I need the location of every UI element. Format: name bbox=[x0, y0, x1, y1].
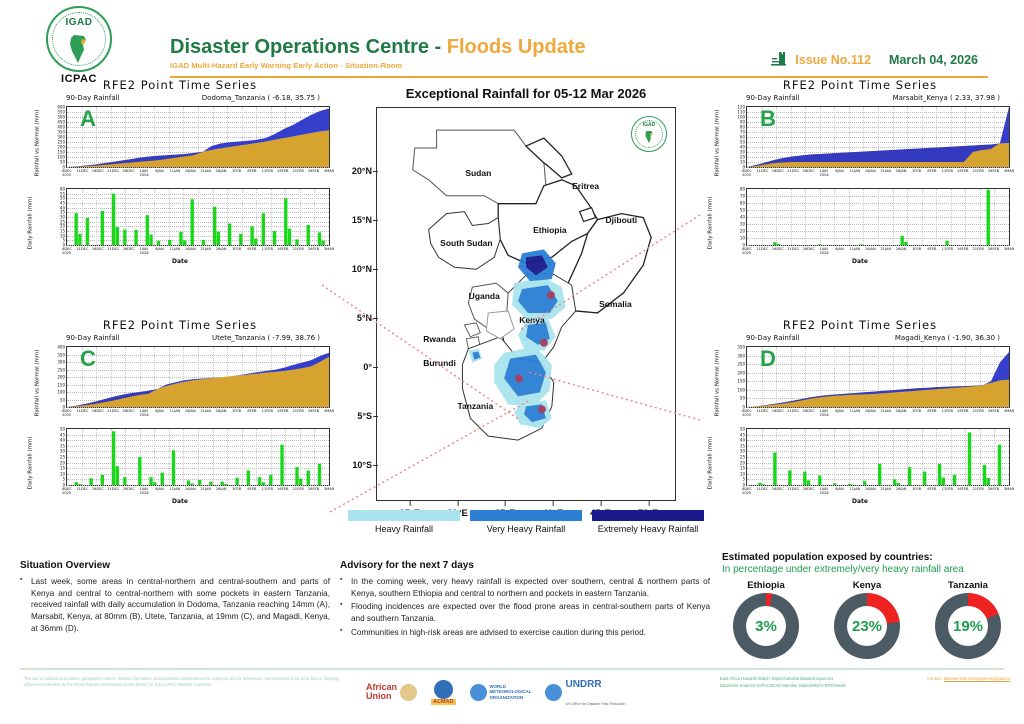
page-header: IGAD ICPAC Disaster Operations Centre - … bbox=[0, 0, 1024, 80]
x-tick-label: 1JAN2026 bbox=[819, 487, 828, 495]
y-axis-label: Daily Rainfall (mm) bbox=[27, 197, 33, 250]
donut-chart: 3% bbox=[733, 593, 799, 659]
x-tick-label: 21JAN bbox=[200, 169, 211, 173]
y-tick-label: 15 bbox=[60, 466, 65, 471]
x-tick-label: 6JAN bbox=[155, 487, 163, 491]
situation-title: Situation Overview bbox=[20, 560, 330, 571]
map-frame: 20°N 15°N 10°N 5°N 0° 5°S 10°S 25°E 30°E… bbox=[376, 107, 676, 501]
x-axis-title: Date bbox=[702, 498, 1018, 505]
country-label-eritrea: Eritrea bbox=[572, 181, 599, 191]
y-tick-label: 350 bbox=[737, 345, 745, 350]
plot-area: 3503002502001501005006DEC202511DEC16DEC2… bbox=[746, 346, 1010, 408]
donut-country-label: Ethiopia bbox=[722, 580, 810, 591]
plot-area: 504540353025201510506DEC202511DEC16DEC21… bbox=[746, 428, 1010, 486]
footer-links: East Africa Hazards Watch: https://eahaz… bbox=[720, 676, 1010, 689]
y-tick-label: 70 bbox=[740, 194, 745, 199]
plot-series bbox=[67, 107, 329, 167]
x-tick-label: 16DEC bbox=[772, 487, 784, 491]
x-tick-label: 1FEB bbox=[232, 487, 241, 491]
donut-chart: 23% bbox=[834, 593, 900, 659]
x-tick-label: 21JAN bbox=[200, 247, 211, 251]
y-axis-label: Rainfall vs Normal (mm) bbox=[34, 350, 40, 417]
chart-panel-title: RFE2 Point Time Series bbox=[702, 78, 1018, 92]
x-tick-label: 11DEC bbox=[76, 487, 88, 491]
x-tick-label: 1JAN2026 bbox=[139, 487, 148, 495]
x-tick-label: 26JAN bbox=[216, 409, 227, 413]
y-tick-label: 35 bbox=[740, 443, 745, 448]
donut-value: 23% bbox=[847, 606, 887, 646]
x-tick-label: 6DEC2025 bbox=[62, 169, 72, 177]
country-label-tanzania: Tanzania bbox=[457, 401, 493, 411]
y-tick-label: 400 bbox=[57, 345, 65, 350]
situation-overview-section: Situation Overview Last week, some areas… bbox=[20, 560, 330, 636]
chart-subtitle-row: 90-Day RainfallMarsabit_Kenya ( 2.33, 37… bbox=[702, 94, 1018, 102]
bullet-item: In the coming week, very heavy rainfall … bbox=[340, 576, 710, 599]
x-tick-label: 21DEC bbox=[787, 247, 799, 251]
bullet-item: Flooding incidences are expected over th… bbox=[340, 601, 710, 624]
y-axis-label: Rainfall vs Normal (mm) bbox=[714, 350, 720, 417]
x-tick-label: 16FEB bbox=[277, 169, 288, 173]
x-tick-label: 26JAN bbox=[896, 487, 907, 491]
y-tick-label: 25 bbox=[60, 455, 65, 460]
x-tick-label: 16FEB bbox=[957, 409, 968, 413]
x-tick-label: 11JAN bbox=[850, 169, 861, 173]
chart-panel-c: RFE2 Point Time Series90-Day RainfallUte… bbox=[22, 318, 338, 502]
x-tick-label: 3MAR bbox=[324, 409, 334, 413]
country-label-ethiopia: Ethiopia bbox=[533, 225, 567, 235]
y-tick-label: 15 bbox=[740, 466, 745, 471]
situation-bullet-list: Last week, some areas in central-norther… bbox=[20, 576, 330, 634]
x-tick-label: 1FEB bbox=[232, 409, 241, 413]
igad-map-logo: IGAD bbox=[631, 116, 667, 152]
donut-cell: Tanzania19% bbox=[924, 580, 1012, 659]
map-title: Exceptional Rainfall for 05-12 Mar 2026 bbox=[372, 86, 680, 101]
x-tick-label: 26DEC bbox=[803, 409, 815, 413]
x-tick-label: 1FEB bbox=[912, 409, 921, 413]
x-tick-label: 26FEB bbox=[988, 247, 999, 251]
hazards-watch-link[interactable]: East Africa Hazards Watch: https://eahaz… bbox=[720, 676, 833, 683]
y-tick-label: 50 bbox=[740, 396, 745, 401]
legend-swatch bbox=[348, 510, 460, 521]
country-label-kenya: Kenya bbox=[519, 315, 545, 325]
contact-email[interactable]: disaster-risk-management@igad.int bbox=[944, 676, 1010, 681]
x-tick-label: 6FEB bbox=[927, 487, 936, 491]
y-tick-label: 40 bbox=[740, 438, 745, 443]
plot-series bbox=[67, 189, 329, 245]
x-tick-label: 26FEB bbox=[308, 487, 319, 491]
x-tick-label: 11FEB bbox=[262, 169, 273, 173]
y-tick-label: 20 bbox=[740, 460, 745, 465]
map-ytick: 5°N bbox=[357, 313, 372, 323]
title-main-text: Disaster Operations Centre - bbox=[170, 36, 447, 58]
africa-map-icon bbox=[643, 130, 655, 144]
y-tick-label: 5 bbox=[62, 477, 65, 482]
x-tick-label: 16JAN bbox=[185, 169, 196, 173]
country-label-sudan: Sudan bbox=[465, 168, 491, 178]
y-tick-label: 40 bbox=[60, 438, 65, 443]
y-tick-label: 350 bbox=[57, 352, 65, 357]
x-axis-title: Date bbox=[22, 258, 338, 265]
x-tick-label: 21FEB bbox=[292, 169, 303, 173]
x-tick-label: 3MAR bbox=[324, 247, 334, 251]
plot-area: 6005505004504003503002502001501005006DEC… bbox=[66, 106, 330, 168]
y-axis-label: Daily Rainfall (mm) bbox=[27, 437, 33, 490]
x-tick-label: 6DEC2025 bbox=[742, 169, 752, 177]
chart-panel-letter: A bbox=[80, 106, 96, 132]
chart-plots: Rainfall vs Normal (mm)60055050045040035… bbox=[22, 102, 338, 262]
x-tick-label: 21FEB bbox=[972, 409, 983, 413]
map-legend: Heavy Rainfall Very Heavy Rainfall Extre… bbox=[348, 510, 704, 534]
x-tick-label: 21FEB bbox=[292, 409, 303, 413]
x-tick-label: 16JAN bbox=[185, 487, 196, 491]
africa-map-icon bbox=[66, 34, 92, 64]
y-tick-label: 150 bbox=[57, 382, 65, 387]
x-tick-label: 1JAN2026 bbox=[139, 169, 148, 177]
daily-plot: Daily Rainfall (mm)807060504030201006DEC… bbox=[702, 184, 1018, 262]
x-tick-label: 6FEB bbox=[927, 247, 936, 251]
daily-plot: Daily Rainfall (mm)504540353025201510506… bbox=[702, 424, 1018, 502]
daily-plot: Daily Rainfall (mm)605550454035302520151… bbox=[22, 184, 338, 262]
x-tick-label: 6FEB bbox=[247, 169, 256, 173]
x-tick-label: 11JAN bbox=[850, 409, 861, 413]
chart-plots: Rainfall vs Normal (mm)40035030025020015… bbox=[22, 342, 338, 502]
population-title: Estimated population exposed by countrie… bbox=[722, 552, 1012, 563]
x-tick-label: 1JAN2026 bbox=[819, 409, 828, 417]
x-tick-label: 16FEB bbox=[957, 169, 968, 173]
y-axis-label: Rainfall vs Normal (mm) bbox=[34, 110, 40, 177]
x-tick-label: 21DEC bbox=[787, 487, 799, 491]
y-tick-label: 100 bbox=[57, 390, 65, 395]
y-tick-label: 200 bbox=[737, 370, 745, 375]
plot-area: 504540353025201510506DEC202511DEC16DEC21… bbox=[66, 428, 330, 486]
page-subtitle: IGAD Multi-Hazard Early Warning Early Ac… bbox=[170, 61, 640, 70]
x-tick-label: 26FEB bbox=[308, 169, 319, 173]
y-tick-label: 50 bbox=[60, 427, 65, 432]
plot-area: 4003503002502001501005006DEC202511DEC16D… bbox=[66, 346, 330, 408]
chart-period-label: 90-Day Rainfall bbox=[746, 94, 800, 102]
x-tick-label: 26DEC bbox=[803, 247, 815, 251]
x-tick-label: 6JAN bbox=[835, 409, 843, 413]
daily-plot: Daily Rainfall (mm)504540353025201510506… bbox=[22, 424, 338, 502]
x-tick-label: 6JAN bbox=[835, 169, 843, 173]
x-tick-label: 6DEC2025 bbox=[62, 409, 72, 417]
x-tick-label: 6FEB bbox=[927, 409, 936, 413]
legend-label: Extremely Heavy Rainfall bbox=[592, 524, 704, 534]
y-tick-label: 20 bbox=[60, 460, 65, 465]
advisory-bullet-list: In the coming week, very heavy rainfall … bbox=[340, 576, 710, 638]
chart-station-label: Utete_Tanzania ( -7.99, 38.76 ) bbox=[212, 334, 320, 342]
donut-value: 3% bbox=[746, 606, 786, 646]
bullet-item: Last week, some areas in central-norther… bbox=[20, 576, 330, 634]
x-tick-label: 11FEB bbox=[942, 487, 953, 491]
donut-cell: Ethiopia3% bbox=[722, 580, 810, 659]
x-tick-label: 16DEC bbox=[772, 247, 784, 251]
x-tick-label: 26JAN bbox=[896, 409, 907, 413]
undrr-label-wrap: UNDRR UN Office for Disaster Risk Reduct… bbox=[565, 674, 625, 709]
x-tick-label: 3MAR bbox=[1004, 409, 1014, 413]
y-tick-label: 200 bbox=[57, 375, 65, 380]
wmo-icon bbox=[470, 684, 487, 701]
chart-panel-d: RFE2 Point Time Series90-Day RainfallMag… bbox=[702, 318, 1018, 502]
map-ytick: 0° bbox=[363, 362, 372, 372]
x-tick-label: 26FEB bbox=[308, 409, 319, 413]
x-tick-label: 26JAN bbox=[216, 247, 227, 251]
x-tick-label: 16JAN bbox=[185, 409, 196, 413]
x-tick-label: 21JAN bbox=[880, 409, 891, 413]
cumulative-plot: Rainfall vs Normal (mm)35030025020015010… bbox=[702, 342, 1018, 424]
y-tick-label: 30 bbox=[740, 222, 745, 227]
x-tick-label: 26FEB bbox=[988, 487, 999, 491]
x-tick-label: 1JAN2026 bbox=[819, 169, 828, 177]
cumulative-plot: Rainfall vs Normal (mm)40035030025020015… bbox=[22, 342, 338, 424]
x-axis-title: Date bbox=[702, 258, 1018, 265]
undrr-icon bbox=[545, 684, 562, 701]
donut-country-label: Kenya bbox=[823, 580, 911, 591]
y-axis-label: Daily Rainfall (mm) bbox=[707, 197, 713, 250]
x-tick-label: 11FEB bbox=[262, 487, 273, 491]
partner-logo-undrr: UNDRR UN Office for Disaster Risk Reduct… bbox=[545, 674, 625, 709]
x-tick-label: 11JAN bbox=[850, 247, 861, 251]
x-tick-label: 11FEB bbox=[942, 169, 953, 173]
undrr-label: UNDRR bbox=[565, 679, 601, 690]
x-tick-label: 16DEC bbox=[772, 409, 784, 413]
x-tick-label: 11FEB bbox=[942, 247, 953, 251]
map-ytick: 20°N bbox=[352, 166, 372, 176]
plot-area: 12011010090807060504030201006DEC202511DE… bbox=[746, 106, 1010, 168]
x-tick-label: 16JAN bbox=[865, 487, 876, 491]
x-tick-label: 16JAN bbox=[865, 409, 876, 413]
x-tick-label: 21DEC bbox=[107, 487, 119, 491]
x-tick-label: 16DEC bbox=[92, 247, 104, 251]
x-tick-label: 11DEC bbox=[76, 409, 88, 413]
x-tick-label: 26FEB bbox=[308, 247, 319, 251]
y-tick-label: 30 bbox=[60, 449, 65, 454]
map-ytick: 15°N bbox=[352, 215, 372, 225]
bullet-item: Communities in high-risk areas are advis… bbox=[340, 627, 710, 639]
x-tick-label: 6DEC2025 bbox=[62, 487, 72, 495]
x-tick-label: 6JAN bbox=[155, 409, 163, 413]
y-tick-label: 45 bbox=[60, 432, 65, 437]
chart-panel-title: RFE2 Point Time Series bbox=[22, 318, 338, 332]
legend-label: Heavy Rainfall bbox=[348, 524, 460, 534]
x-tick-label: 26DEC bbox=[123, 169, 135, 173]
x-tick-label: 21FEB bbox=[972, 487, 983, 491]
donut-value: 19% bbox=[948, 606, 988, 646]
x-tick-label: 16FEB bbox=[957, 487, 968, 491]
x-tick-label: 16FEB bbox=[277, 247, 288, 251]
x-tick-label: 21DEC bbox=[107, 247, 119, 251]
x-tick-label: 11FEB bbox=[262, 247, 273, 251]
plot-series bbox=[747, 347, 1009, 407]
chart-panel-title: RFE2 Point Time Series bbox=[702, 318, 1018, 332]
legend-label: Very Heavy Rainfall bbox=[470, 524, 582, 534]
chart-panel-title: RFE2 Point Time Series bbox=[22, 78, 338, 92]
x-tick-label: 6DEC2025 bbox=[742, 247, 752, 255]
x-tick-label: 6JAN bbox=[835, 247, 843, 251]
country-label-uganda: Uganda bbox=[469, 291, 500, 301]
x-tick-label: 16FEB bbox=[277, 409, 288, 413]
x-tick-label: 11JAN bbox=[170, 247, 181, 251]
y-tick-label: 300 bbox=[737, 353, 745, 358]
y-tick-label: 100 bbox=[737, 387, 745, 392]
chart-subtitle-row: 90-Day RainfallDodoma_Tanzania ( -6.18, … bbox=[22, 94, 338, 102]
x-tick-label: 21JAN bbox=[880, 487, 891, 491]
x-tick-label: 21FEB bbox=[292, 487, 303, 491]
y-tick-label: 60 bbox=[740, 201, 745, 206]
chart-report-icon bbox=[771, 52, 787, 67]
y-tick-label: 50 bbox=[740, 208, 745, 213]
x-tick-label: 11DEC bbox=[756, 169, 768, 173]
x-tick-label: 21DEC bbox=[787, 169, 799, 173]
cumulative-plot: Rainfall vs Normal (mm)12011010090807060… bbox=[702, 102, 1018, 184]
x-tick-label: 26FEB bbox=[988, 169, 999, 173]
x-tick-label: 1FEB bbox=[912, 487, 921, 491]
x-tick-label: 21JAN bbox=[880, 247, 891, 251]
icpac-logo: IGAD ICPAC bbox=[32, 6, 126, 80]
legend-item-extremely-heavy: Extremely Heavy Rainfall bbox=[592, 510, 704, 534]
x-tick-label: 11JAN bbox=[170, 169, 181, 173]
x-tick-label: 6JAN bbox=[155, 169, 163, 173]
y-tick-label: 50 bbox=[740, 427, 745, 432]
x-tick-label: 1JAN2026 bbox=[139, 247, 148, 255]
population-subtitle: In percentage under extremely/very heavy… bbox=[722, 564, 1012, 575]
chart-station-label: Dodoma_Tanzania ( -6.18, 35.75 ) bbox=[202, 94, 320, 102]
rainfall-map: Exceptional Rainfall for 05-12 Mar 2026 bbox=[372, 86, 680, 552]
x-tick-label: 11FEB bbox=[262, 409, 273, 413]
plot-area: 807060504030201006DEC202511DEC16DEC21DEC… bbox=[746, 188, 1010, 246]
chart-plots: Rainfall vs Normal (mm)12011010090807060… bbox=[702, 102, 1018, 262]
chart-panel-b: RFE2 Point Time Series90-Day RainfallMar… bbox=[702, 78, 1018, 262]
y-tick-label: 80 bbox=[740, 187, 745, 192]
x-tick-label: 1FEB bbox=[912, 169, 921, 173]
x-tick-label: 11DEC bbox=[76, 169, 88, 173]
advisory-section: Advisory for the next 7 days In the comi… bbox=[340, 560, 710, 640]
x-tick-label: 21FEB bbox=[972, 169, 983, 173]
y-tick-label: 20 bbox=[740, 229, 745, 234]
x-tick-label: 26DEC bbox=[123, 409, 135, 413]
x-tick-label: 6JAN bbox=[155, 247, 163, 251]
wmo-label: WORLDMETEOROLOGICALORGANIZATION bbox=[490, 684, 532, 701]
x-tick-label: 3MAR bbox=[1004, 247, 1014, 251]
x-tick-label: 3MAR bbox=[324, 487, 334, 491]
chart-period-label: 90-Day Rainfall bbox=[66, 334, 120, 342]
x-tick-label: 16JAN bbox=[185, 247, 196, 251]
acmad-label: ACMAD bbox=[431, 699, 455, 705]
country-label-burundi: Burundi bbox=[423, 358, 456, 368]
legend-item-very-heavy: Very Heavy Rainfall bbox=[470, 510, 582, 534]
x-tick-label: 21JAN bbox=[200, 487, 211, 491]
chart-panel-letter: B bbox=[760, 106, 776, 132]
chart-subtitle-row: 90-Day RainfallUtete_Tanzania ( -7.99, 3… bbox=[22, 334, 338, 342]
donut-chart: 19% bbox=[935, 593, 1001, 659]
chart-period-label: 90-Day Rainfall bbox=[66, 94, 120, 102]
plot-area: 6055504540353025201510506DEC202511DEC16D… bbox=[66, 188, 330, 246]
partner-logo-acmad: ACMAD bbox=[431, 680, 455, 705]
map-ytick: 5°S bbox=[357, 411, 372, 421]
y-tick-label: 300 bbox=[57, 360, 65, 365]
plot-series bbox=[747, 429, 1009, 485]
chart-subtitle-row: 90-Day RainfallMagadi_Kenya ( -1.90, 36.… bbox=[702, 334, 1018, 342]
data-sources-text: Data/Infor Sources: ICPAC/IGAD Member St… bbox=[720, 683, 846, 690]
chart-period-label: 90-Day Rainfall bbox=[746, 334, 800, 342]
issue-date: March 04, 2026 bbox=[889, 53, 978, 67]
x-tick-label: 3MAR bbox=[324, 169, 334, 173]
x-tick-label: 11JAN bbox=[170, 409, 181, 413]
country-label-djibouti: Djibouti bbox=[606, 215, 638, 225]
x-tick-label: 6FEB bbox=[247, 487, 256, 491]
legend-item-heavy: Heavy Rainfall bbox=[348, 510, 460, 534]
x-tick-label: 16DEC bbox=[92, 487, 104, 491]
x-tick-label: 1JAN2026 bbox=[139, 409, 148, 417]
country-label-rwanda: Rwanda bbox=[423, 334, 456, 344]
contact-link[interactable]: Contact: disaster-risk-management@igad.i… bbox=[927, 676, 1010, 683]
x-tick-label: 16FEB bbox=[277, 487, 288, 491]
x-tick-label: 11JAN bbox=[170, 487, 181, 491]
y-tick-label: 35 bbox=[60, 443, 65, 448]
advisory-title: Advisory for the next 7 days bbox=[340, 560, 710, 571]
population-exposed-section: Estimated population exposed by countrie… bbox=[722, 552, 1012, 659]
y-tick-label: 30 bbox=[740, 449, 745, 454]
map-ytick: 10°S bbox=[352, 460, 372, 470]
y-axis-label: Daily Rainfall (mm) bbox=[707, 437, 713, 490]
plot-series bbox=[747, 107, 1009, 167]
x-tick-label: 26JAN bbox=[216, 487, 227, 491]
x-tick-label: 26FEB bbox=[988, 409, 999, 413]
x-tick-label: 6FEB bbox=[247, 409, 256, 413]
x-tick-label: 16JAN bbox=[865, 169, 876, 173]
x-tick-label: 11DEC bbox=[756, 409, 768, 413]
y-tick-label: 10 bbox=[740, 236, 745, 241]
african-union-icon bbox=[400, 684, 417, 701]
country-label-south-sudan: South Sudan bbox=[440, 238, 492, 248]
chart-plots: Rainfall vs Normal (mm)35030025020015010… bbox=[702, 342, 1018, 502]
issue-info: Issue No.112 March 04, 2026 bbox=[771, 52, 978, 67]
chart-station-label: Marsabit_Kenya ( 2.33, 37.98 ) bbox=[893, 94, 1000, 102]
x-tick-label: 21JAN bbox=[880, 169, 891, 173]
x-tick-label: 6DEC2025 bbox=[742, 409, 752, 417]
legend-swatch bbox=[470, 510, 582, 521]
plot-series bbox=[67, 347, 329, 407]
map-ytick: 10°N bbox=[352, 264, 372, 274]
contact-label: Contact: bbox=[927, 676, 944, 681]
x-tick-label: 6DEC2025 bbox=[62, 247, 72, 255]
issue-number: Issue No.112 bbox=[795, 53, 871, 67]
x-tick-label: 26DEC bbox=[123, 487, 135, 491]
plot-series bbox=[747, 189, 1009, 245]
acmad-icon bbox=[434, 680, 453, 699]
page-title: Disaster Operations Centre - Floods Upda… bbox=[170, 36, 640, 70]
donut-chart-group: Ethiopia3%Kenya23%Tanzania19% bbox=[722, 580, 1012, 659]
plot-series bbox=[67, 429, 329, 485]
y-tick-label: 250 bbox=[57, 367, 65, 372]
title-accent-text: Floods Update bbox=[447, 36, 586, 58]
y-tick-label: 5 bbox=[742, 477, 745, 482]
chart-panel-a: RFE2 Point Time Series90-Day RainfallDod… bbox=[22, 78, 338, 262]
x-tick-label: 21FEB bbox=[292, 247, 303, 251]
x-tick-label: 11DEC bbox=[756, 487, 768, 491]
x-tick-label: 21DEC bbox=[107, 169, 119, 173]
donut-cell: Kenya23% bbox=[823, 580, 911, 659]
y-axis-label: Rainfall vs Normal (mm) bbox=[714, 110, 720, 177]
x-tick-label: 21JAN bbox=[200, 409, 211, 413]
floods-update-infographic: IGAD ICPAC Disaster Operations Centre - … bbox=[0, 0, 1024, 724]
chart-panel-letter: C bbox=[80, 346, 96, 372]
y-tick-label: 45 bbox=[740, 432, 745, 437]
chart-station-label: Magadi_Kenya ( -1.90, 36.30 ) bbox=[895, 334, 1000, 342]
y-tick-label: 40 bbox=[740, 215, 745, 220]
igad-logo-text: IGAD bbox=[48, 17, 110, 28]
x-tick-label: 11DEC bbox=[756, 247, 768, 251]
